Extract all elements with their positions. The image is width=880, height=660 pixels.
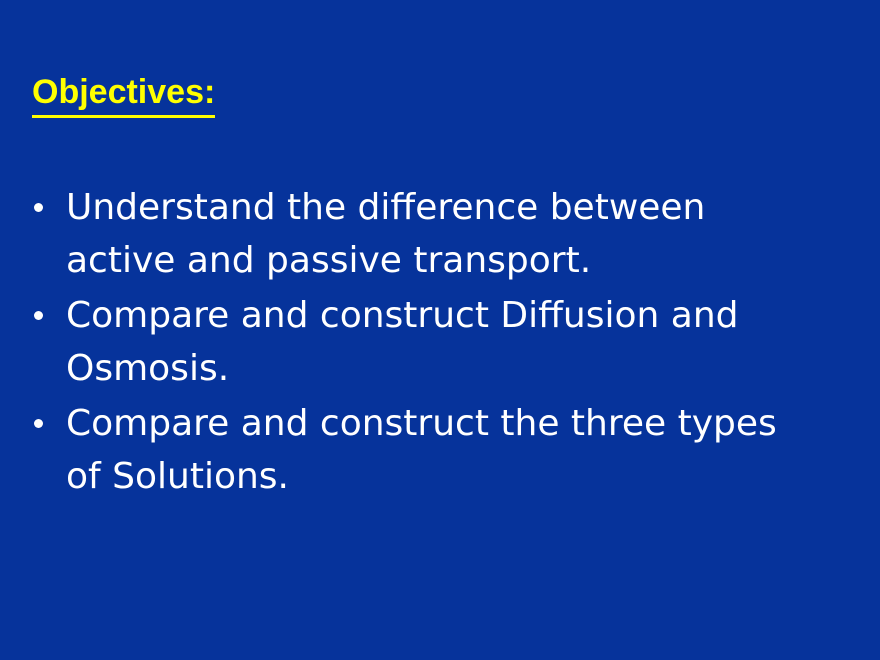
list-item-label: Understand the difference between active…: [66, 181, 820, 287]
presentation-slide: Objectives: Understand the difference be…: [0, 0, 880, 660]
objectives-bullet-list: Understand the difference between active…: [30, 181, 820, 505]
list-item-label: Compare and construct Diffusion and Osmo…: [66, 289, 820, 395]
list-item: Understand the difference between active…: [30, 181, 820, 287]
bullet-dot-icon: [34, 419, 43, 428]
bullet-dot-icon: [34, 203, 43, 212]
bullet-dot-icon: [34, 311, 43, 320]
list-item: Compare and construct the three types of…: [30, 397, 820, 503]
list-item-label: Compare and construct the three types of…: [66, 397, 820, 503]
slide-title-block: Objectives:: [32, 72, 832, 118]
page-title: Objectives:: [32, 72, 215, 118]
list-item: Compare and construct Diffusion and Osmo…: [30, 289, 820, 395]
